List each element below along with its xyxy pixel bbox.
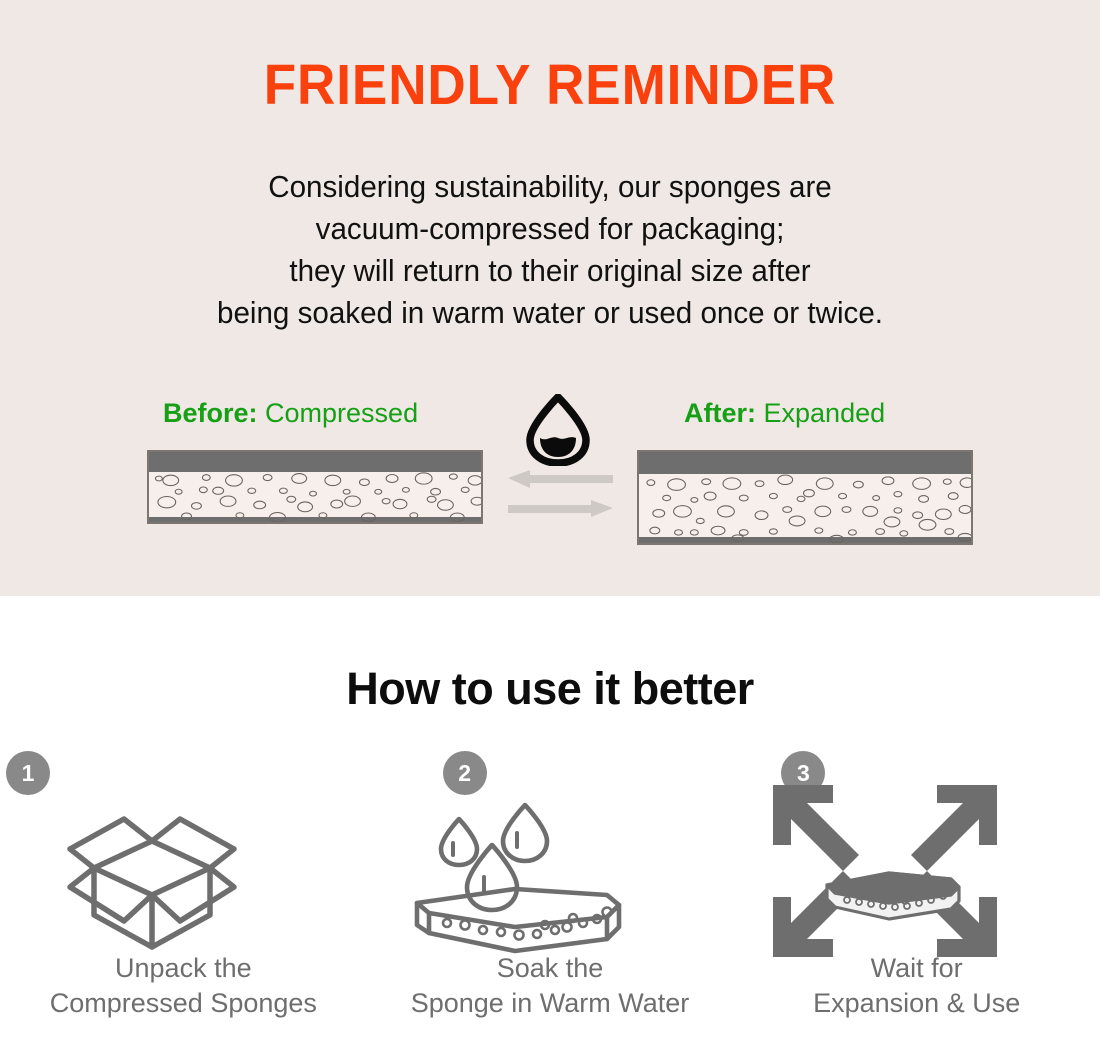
reminder-body-line-4: being soaked in warm water or used once … — [17, 292, 1084, 334]
after-label-light: Expanded — [764, 398, 886, 428]
step-caption-line-2: Expansion & Use — [813, 986, 1020, 1021]
expanded-sponge-graphic — [637, 450, 973, 545]
step-caption-line-1: Soak the — [411, 951, 690, 986]
reminder-body-line-3: they will return to their original size … — [17, 250, 1084, 292]
step-item: 1 — [0, 751, 367, 1039]
water-drop-icon — [519, 394, 597, 466]
open-box-icon — [52, 775, 252, 955]
expanding-arrows-sponge-icon — [755, 773, 1015, 969]
before-label: Before: Compressed — [163, 400, 418, 427]
step-item: 3 — [733, 751, 1100, 1039]
after-label-strong: After: — [684, 398, 756, 428]
friendly-reminder-panel: FRIENDLY REMINDER Considering sustainabi… — [0, 0, 1100, 596]
step-caption: Soak the Sponge in Warm Water — [411, 951, 690, 1021]
how-to-use-panel: How to use it better 1 — [0, 596, 1100, 1039]
two-way-arrows-icon — [508, 470, 613, 518]
reminder-body-text: Considering sustainability, our sponges … — [17, 166, 1084, 334]
step-caption-line-1: Unpack the — [50, 951, 317, 986]
how-to-title: How to use it better — [0, 666, 1100, 711]
compressed-sponge-graphic — [147, 450, 483, 524]
water-drops-on-sponge-icon — [407, 775, 627, 955]
reminder-body-line-1: Considering sustainability, our sponges … — [17, 166, 1084, 208]
step-caption: Unpack the Compressed Sponges — [50, 951, 317, 1021]
step-graphic: 3 — [733, 751, 1100, 951]
before-label-light: Compressed — [265, 398, 418, 428]
step-graphic: 2 — [367, 751, 734, 951]
page-title: FRIENDLY REMINDER — [39, 57, 1062, 114]
before-label-strong: Before: — [163, 398, 258, 428]
after-label: After: Expanded — [684, 400, 885, 427]
step-caption-line-2: Sponge in Warm Water — [411, 986, 690, 1021]
sponge-pore-pattern — [149, 452, 481, 522]
infographic-page: FRIENDLY REMINDER Considering sustainabi… — [0, 0, 1100, 1039]
sponge-pore-pattern — [639, 452, 971, 543]
step-graphic: 1 — [0, 751, 367, 951]
steps-list: 1 — [0, 751, 1100, 1039]
reminder-body-line-2: vacuum-compressed for packaging; — [17, 208, 1084, 250]
step-number-badge: 1 — [6, 751, 50, 795]
step-caption-line-2: Compressed Sponges — [50, 986, 317, 1021]
step-item: 2 — [367, 751, 734, 1039]
